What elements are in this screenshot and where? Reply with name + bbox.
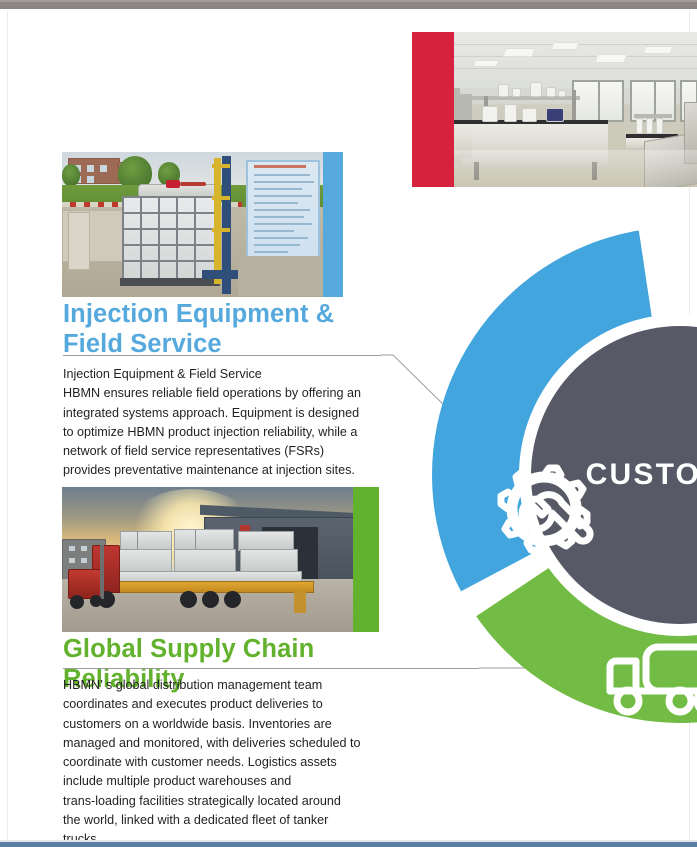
injection-photo-blue-accent	[323, 152, 343, 297]
lab-photo-red-accent	[412, 32, 454, 187]
injection-body-text: Injection Equipment & Field Service HBMN…	[63, 365, 393, 481]
supply-rule	[63, 668, 479, 669]
wheel-center-label: CUSTOMER	[586, 458, 697, 492]
lab-scene	[412, 32, 697, 187]
customer-wheel-diagram: CUSTOMER	[430, 225, 697, 725]
page-top-bar-highlight	[0, 0, 697, 2]
laboratory-photo	[412, 32, 697, 187]
global-supply-chain-photo	[62, 487, 379, 632]
supply-photo-green-accent	[353, 487, 379, 632]
brochure-page: Injection Equipment & Field Service Inje…	[0, 0, 697, 847]
injection-equipment-photo	[62, 152, 343, 297]
injection-heading: Injection Equipment & Field Service	[63, 300, 393, 360]
lab-floor	[412, 150, 697, 187]
page-edge-left	[7, 11, 8, 839]
injection-rule	[63, 355, 381, 356]
supply-body-text: HBMN’ s global distribution management t…	[63, 676, 393, 847]
page-bottom-bar	[0, 842, 697, 847]
ibc-info-sign	[246, 160, 320, 258]
ibc-tote	[122, 196, 218, 280]
